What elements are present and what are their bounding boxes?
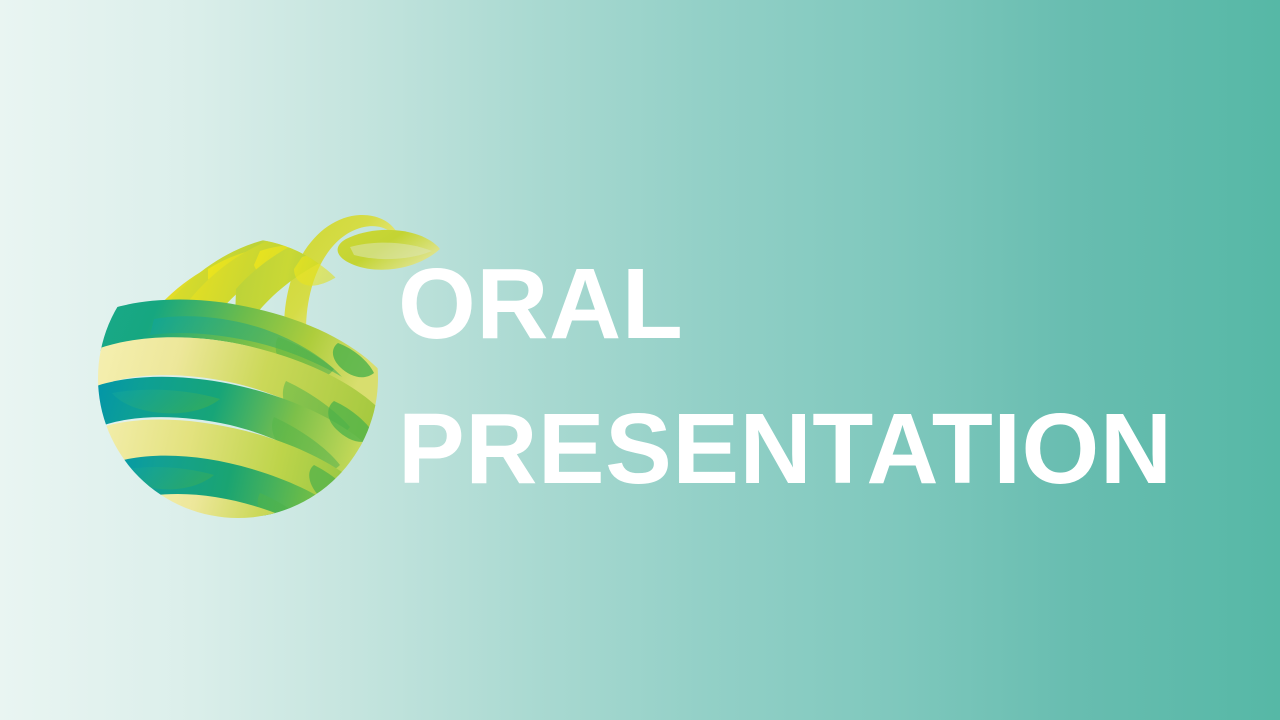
logo-svg [88,203,388,519]
title-line-1: ORAL [398,232,1228,377]
band-10 [128,494,354,589]
globe-ribbon-leaf-logo [88,203,388,519]
title-line-2: PRESENTATION [398,377,1228,522]
band-11 [152,526,344,603]
presentation-slide: ORAL PRESENTATION [0,0,1280,720]
globe-bands [88,226,406,603]
title-block: ORAL PRESENTATION [398,232,1228,522]
